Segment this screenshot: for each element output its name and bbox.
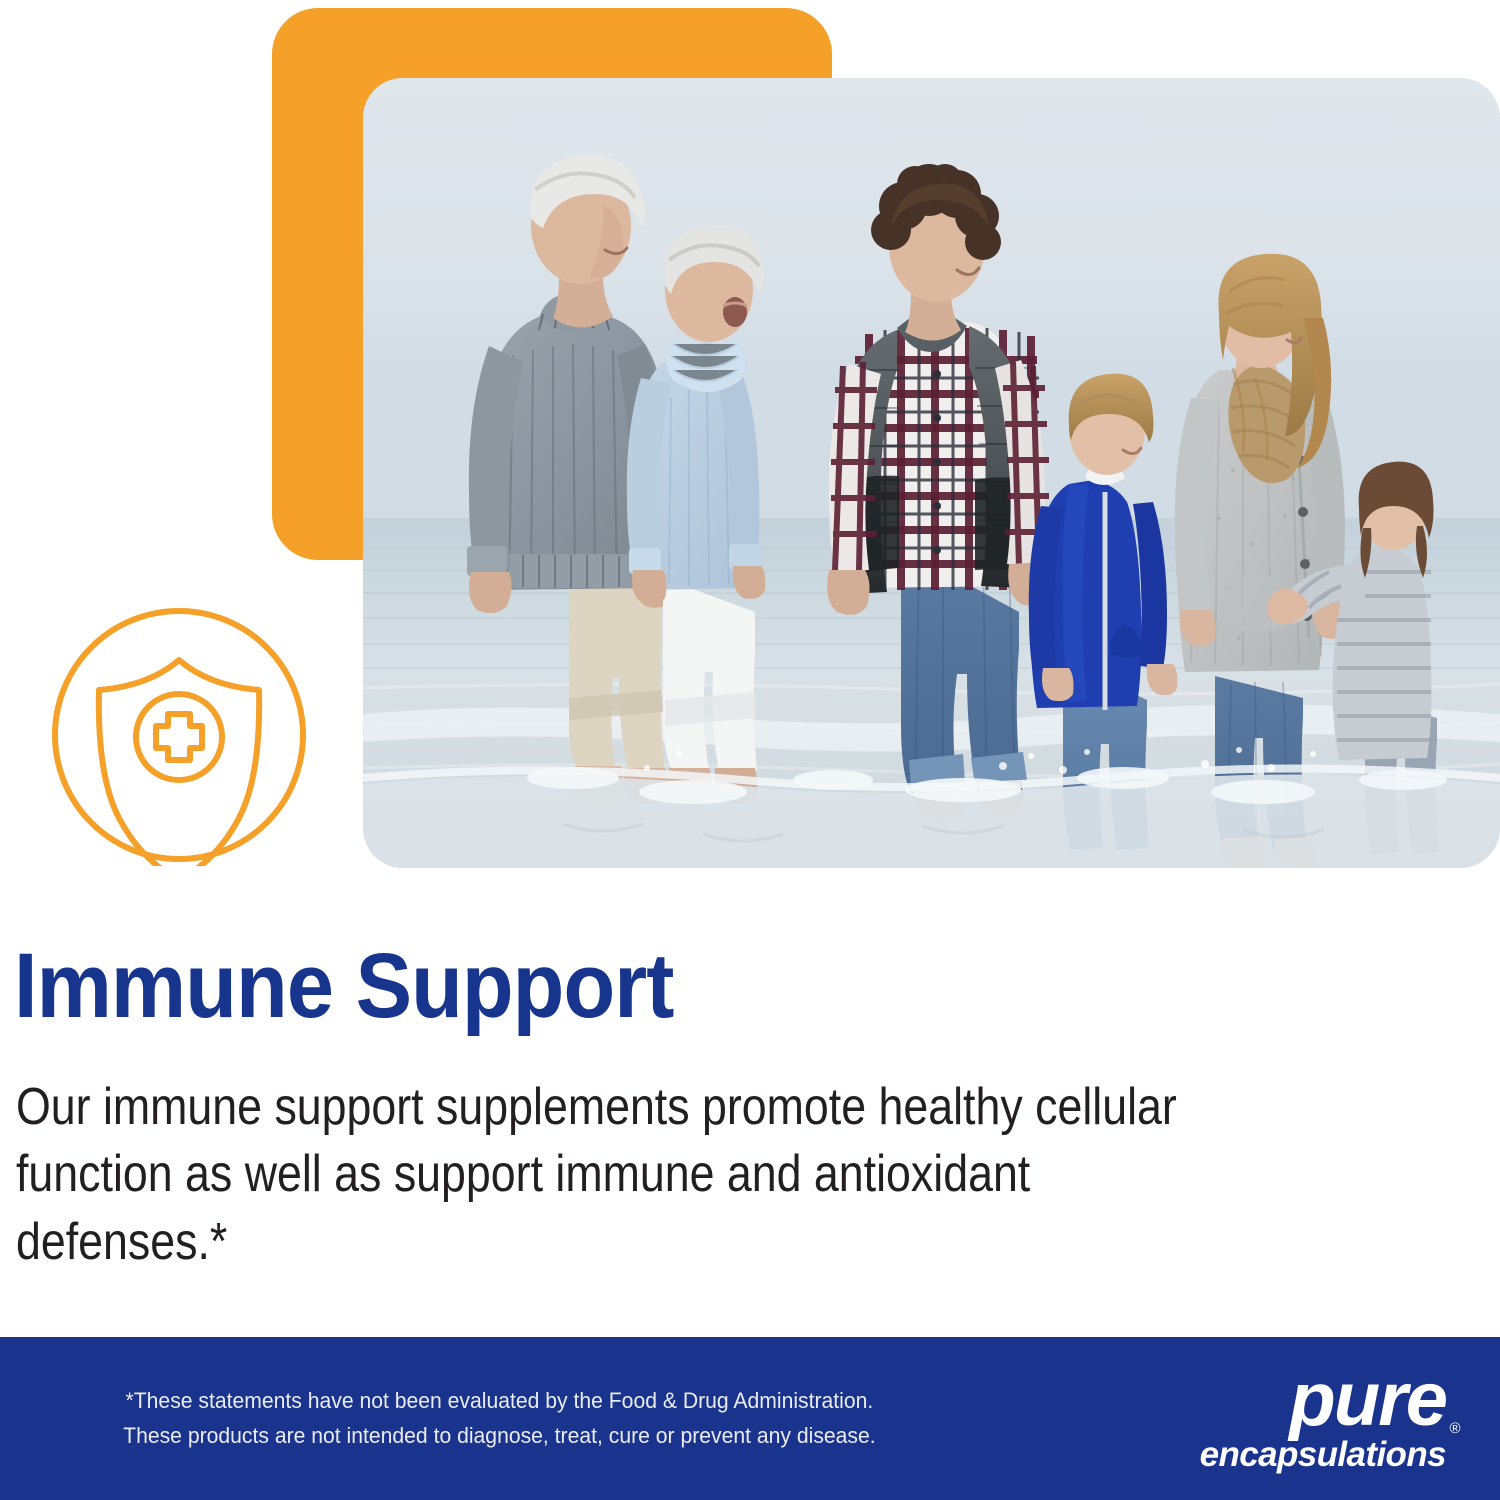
fda-disclaimer: *These statements have not been evaluate…	[29, 1384, 950, 1452]
text-content: Immune Support Our immune support supple…	[0, 900, 1500, 1277]
marketing-banner: Immune Support Our immune support supple…	[0, 0, 1500, 1500]
hero-section	[0, 0, 1500, 900]
brand-name-primary: pure	[1162, 1365, 1446, 1435]
fda-disclaimer-line-1: *These statements have not been evaluate…	[48, 1384, 950, 1418]
brand-name-secondary-text: encapsulations	[1200, 1435, 1446, 1474]
pure-encapsulations-logo: pure encapsulations ®	[1162, 1365, 1462, 1472]
registered-trademark-icon: ®	[1450, 1421, 1460, 1436]
shield-medical-cross-icon	[48, 604, 310, 866]
brand-name-secondary: encapsulations ®	[1162, 1437, 1446, 1472]
hero-photo	[363, 78, 1500, 868]
fda-disclaimer-line-2: These products are not intended to diagn…	[48, 1419, 950, 1453]
page-title: Immune Support	[14, 940, 1381, 1034]
footer-bar: *These statements have not been evaluate…	[0, 1337, 1500, 1500]
page-description: Our immune support supplements promote h…	[16, 1074, 1203, 1277]
